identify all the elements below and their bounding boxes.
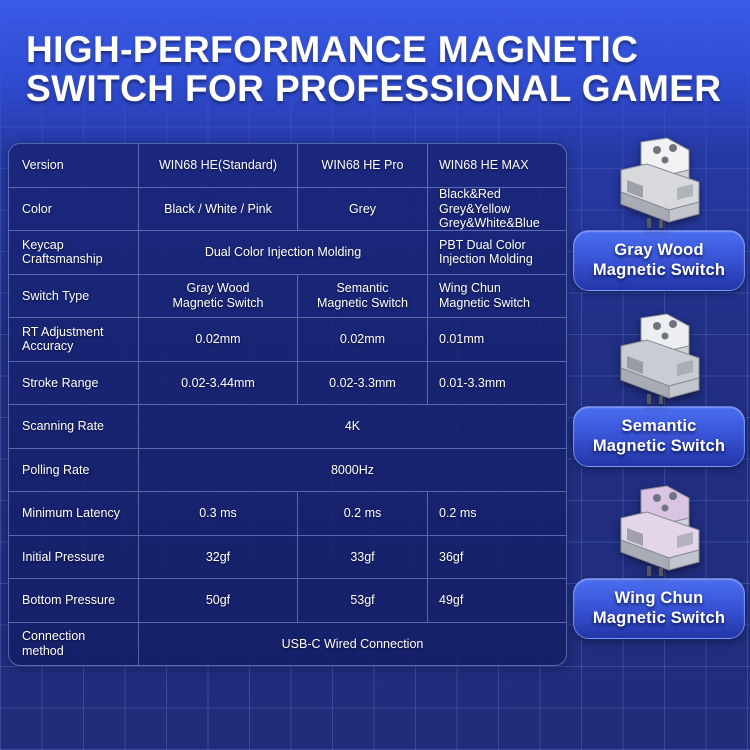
table-cell-text: 50gf bbox=[206, 593, 230, 608]
product-name-badge[interactable]: Semantic Magnetic Switch bbox=[573, 406, 745, 467]
table-cell: WIN68 HE(Standard) bbox=[139, 144, 298, 187]
table-cell: Black / White / Pink bbox=[139, 188, 298, 231]
row-label: Scanning Rate bbox=[9, 405, 139, 448]
specification-table: VersionWIN68 HE(Standard)WIN68 HE ProWIN… bbox=[8, 143, 567, 666]
table-cell: 0.01-3.3mm bbox=[428, 362, 566, 405]
row-label-text: Keycap Craftsmanship bbox=[22, 238, 103, 267]
row-label-text: Color bbox=[22, 202, 52, 217]
table-row: Keycap CraftsmanshipDual Color Injection… bbox=[9, 231, 566, 275]
table-cell-text: WIN68 HE Pro bbox=[322, 158, 404, 173]
table-cell-text: 53gf bbox=[350, 593, 374, 608]
row-label: Connection method bbox=[9, 623, 139, 666]
table-cell: USB-C Wired Connection bbox=[139, 623, 566, 666]
table-cell: 33gf bbox=[298, 536, 428, 579]
table-cell: 0.02mm bbox=[298, 318, 428, 361]
row-label-text: Stroke Range bbox=[22, 376, 98, 391]
product-card: Gray Wood Magnetic Switch bbox=[571, 136, 747, 291]
table-cell: Semantic Magnetic Switch bbox=[298, 275, 428, 318]
table-cell: 0.2 ms bbox=[428, 492, 566, 535]
table-cell: WIN68 HE Pro bbox=[298, 144, 428, 187]
row-label-text: RT Adjustment Accuracy bbox=[22, 325, 104, 354]
table-row: Stroke Range0.02-3.44mm0.02-3.3mm0.01-3.… bbox=[9, 362, 566, 406]
row-label: Bottom Pressure bbox=[9, 579, 139, 622]
table-row: Scanning Rate4K bbox=[9, 405, 566, 449]
product-card: Semantic Magnetic Switch bbox=[571, 312, 747, 467]
table-cell-text: 36gf bbox=[439, 550, 463, 565]
row-label: Initial Pressure bbox=[9, 536, 139, 579]
title-line-2: SWITCH FOR PROFESSIONAL GAMER bbox=[26, 69, 736, 108]
table-cell: 0.02mm bbox=[139, 318, 298, 361]
table-row: Switch TypeGray Wood Magnetic SwitchSema… bbox=[9, 275, 566, 319]
table-row: ColorBlack / White / PinkGreyBlack&Red G… bbox=[9, 188, 566, 232]
table-cell-text: Gray Wood Magnetic Switch bbox=[172, 281, 263, 310]
row-label: RT Adjustment Accuracy bbox=[9, 318, 139, 361]
table-cell: 32gf bbox=[139, 536, 298, 579]
row-label: Polling Rate bbox=[9, 449, 139, 492]
table-cell-text: 32gf bbox=[206, 550, 230, 565]
table-cell: 8000Hz bbox=[139, 449, 566, 492]
product-spec-infographic: HIGH-PERFORMANCE MAGNETIC SWITCH FOR PRO… bbox=[0, 0, 750, 750]
table-cell-text: WIN68 HE MAX bbox=[439, 158, 529, 173]
table-cell-text: 0.02-3.3mm bbox=[329, 376, 396, 391]
table-cell-text: Semantic Magnetic Switch bbox=[317, 281, 408, 310]
row-label: Keycap Craftsmanship bbox=[9, 231, 139, 274]
table-cell-text: 0.3 ms bbox=[199, 506, 237, 521]
table-cell: Gray Wood Magnetic Switch bbox=[139, 275, 298, 318]
table-cell-text: 0.01mm bbox=[439, 332, 484, 347]
table-cell-text: 0.2 ms bbox=[344, 506, 382, 521]
table-cell-text: 8000Hz bbox=[331, 463, 374, 478]
title-line-1: HIGH-PERFORMANCE MAGNETIC bbox=[26, 30, 736, 69]
table-cell: 53gf bbox=[298, 579, 428, 622]
magnetic-switch-icon bbox=[607, 136, 711, 228]
row-label: Switch Type bbox=[9, 275, 139, 318]
table-row: Bottom Pressure50gf53gf49gf bbox=[9, 579, 566, 623]
product-showcase-column: Gray Wood Magnetic Switch Semantic Magne… bbox=[571, 136, 747, 668]
table-cell: 0.2 ms bbox=[298, 492, 428, 535]
table-cell: 0.02-3.3mm bbox=[298, 362, 428, 405]
table-cell-text: Black&Red Grey&Yellow Grey&White&Blue bbox=[439, 188, 540, 231]
product-card: Wing Chun Magnetic Switch bbox=[571, 484, 747, 639]
table-cell: Dual Color Injection Molding bbox=[139, 231, 428, 274]
product-name-badge[interactable]: Gray Wood Magnetic Switch bbox=[573, 230, 745, 291]
row-label-text: Scanning Rate bbox=[22, 419, 104, 434]
row-label: Minimum Latency bbox=[9, 492, 139, 535]
table-cell: 4K bbox=[139, 405, 566, 448]
table-cell-text: 49gf bbox=[439, 593, 463, 608]
table-row: Connection methodUSB-C Wired Connection bbox=[9, 623, 566, 666]
row-label-text: Polling Rate bbox=[22, 463, 89, 478]
table-cell: 50gf bbox=[139, 579, 298, 622]
row-label-text: Initial Pressure bbox=[22, 550, 105, 565]
row-label: Color bbox=[9, 188, 139, 231]
row-label-text: Bottom Pressure bbox=[22, 593, 115, 608]
table-row: RT Adjustment Accuracy0.02mm0.02mm0.01mm bbox=[9, 318, 566, 362]
table-row: Minimum Latency0.3 ms0.2 ms0.2 ms bbox=[9, 492, 566, 536]
table-cell-text: 0.02-3.44mm bbox=[181, 376, 255, 391]
row-label: Stroke Range bbox=[9, 362, 139, 405]
row-label-text: Minimum Latency bbox=[22, 506, 120, 521]
table-cell-text: 4K bbox=[345, 419, 360, 434]
table-cell: Grey bbox=[298, 188, 428, 231]
row-label: Version bbox=[9, 144, 139, 187]
product-name-badge[interactable]: Wing Chun Magnetic Switch bbox=[573, 578, 745, 639]
table-cell-text: Wing Chun Magnetic Switch bbox=[439, 281, 530, 310]
table-cell-text: 33gf bbox=[350, 550, 374, 565]
row-label-text: Switch Type bbox=[22, 289, 89, 304]
table-cell-text: 0.01-3.3mm bbox=[439, 376, 506, 391]
table-cell-text: Grey bbox=[349, 202, 376, 217]
row-label-text: Connection method bbox=[22, 629, 85, 658]
table-cell: WIN68 HE MAX bbox=[428, 144, 566, 187]
table-cell-text: 0.02mm bbox=[340, 332, 385, 347]
table-cell: 0.01mm bbox=[428, 318, 566, 361]
magnetic-switch-icon bbox=[607, 312, 711, 404]
table-cell: Black&Red Grey&Yellow Grey&White&Blue bbox=[428, 188, 566, 231]
table-cell: 0.3 ms bbox=[139, 492, 298, 535]
page-title: HIGH-PERFORMANCE MAGNETIC SWITCH FOR PRO… bbox=[26, 30, 736, 108]
table-row: Polling Rate8000Hz bbox=[9, 449, 566, 493]
table-cell-text: USB-C Wired Connection bbox=[282, 637, 424, 652]
table-cell: PBT Dual Color Injection Molding bbox=[428, 231, 566, 274]
table-cell: 49gf bbox=[428, 579, 566, 622]
table-cell-text: 0.02mm bbox=[195, 332, 240, 347]
table-cell: Wing Chun Magnetic Switch bbox=[428, 275, 566, 318]
table-cell-text: Black / White / Pink bbox=[164, 202, 272, 217]
table-cell: 0.02-3.44mm bbox=[139, 362, 298, 405]
row-label-text: Version bbox=[22, 158, 64, 173]
table-cell-text: WIN68 HE(Standard) bbox=[159, 158, 277, 173]
magnetic-switch-icon bbox=[607, 484, 711, 576]
table-cell: 36gf bbox=[428, 536, 566, 579]
table-row: Initial Pressure32gf33gf36gf bbox=[9, 536, 566, 580]
table-cell-text: Dual Color Injection Molding bbox=[205, 245, 361, 260]
table-cell-text: 0.2 ms bbox=[439, 506, 477, 521]
table-cell-text: PBT Dual Color Injection Molding bbox=[439, 238, 533, 267]
table-row: VersionWIN68 HE(Standard)WIN68 HE ProWIN… bbox=[9, 144, 566, 188]
